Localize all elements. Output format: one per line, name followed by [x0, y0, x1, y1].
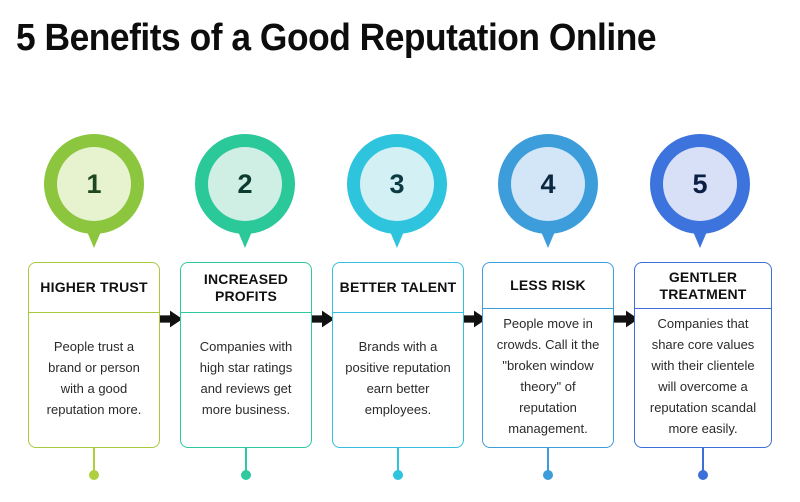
infographic-canvas: 5 Benefits of a Good Reputation Online 1…	[0, 0, 800, 502]
step-pin-2: 2	[195, 134, 295, 252]
card-connector-dot	[698, 470, 708, 480]
page-title: 5 Benefits of a Good Reputation Online	[16, 14, 730, 62]
step-circle-2: 2	[195, 134, 295, 234]
step-circle-1: 1	[44, 134, 144, 234]
benefit-card-5[interactable]: GENTLER TREATMENTCompanies that share co…	[634, 262, 772, 448]
step-pin-3: 3	[347, 134, 447, 252]
benefit-card-heading: INCREASED PROFITS	[181, 263, 311, 313]
step-number: 1	[57, 147, 131, 221]
benefit-card-body: Companies that share core values with th…	[635, 309, 771, 447]
step-circle-4: 4	[498, 134, 598, 234]
step-pin-4: 4	[498, 134, 598, 252]
benefit-card-body: Companies with high star ratings and rev…	[181, 313, 311, 447]
benefit-card-2[interactable]: INCREASED PROFITSCompanies with high sta…	[180, 262, 312, 448]
benefit-card-body: Brands with a positive reputation earn b…	[333, 313, 463, 447]
step-number: 2	[208, 147, 282, 221]
benefit-card-1[interactable]: HIGHER TRUSTPeople trust a brand or pers…	[28, 262, 160, 448]
card-connector-dot	[543, 470, 553, 480]
benefit-card-heading: LESS RISK	[483, 263, 613, 309]
step-circle-3: 3	[347, 134, 447, 234]
steps-row: 12345	[0, 134, 800, 259]
card-connector-dot	[241, 470, 251, 480]
benefit-card-3[interactable]: BETTER TALENTBrands with a positive repu…	[332, 262, 464, 448]
card-connector-dot	[393, 470, 403, 480]
step-circle-5: 5	[650, 134, 750, 234]
benefit-card-body: People move in crowds. Call it the "brok…	[483, 309, 613, 447]
benefit-card-heading: GENTLER TREATMENT	[635, 263, 771, 309]
step-number: 5	[663, 147, 737, 221]
step-pin-5: 5	[650, 134, 750, 252]
step-number: 3	[360, 147, 434, 221]
card-connector-dot	[89, 470, 99, 480]
benefit-card-heading: BETTER TALENT	[333, 263, 463, 313]
step-pin-1: 1	[44, 134, 144, 252]
benefit-card-heading: HIGHER TRUST	[29, 263, 159, 313]
benefit-card-body: People trust a brand or person with a go…	[29, 313, 159, 447]
step-number: 4	[511, 147, 585, 221]
benefit-card-4[interactable]: LESS RISKPeople move in crowds. Call it …	[482, 262, 614, 448]
